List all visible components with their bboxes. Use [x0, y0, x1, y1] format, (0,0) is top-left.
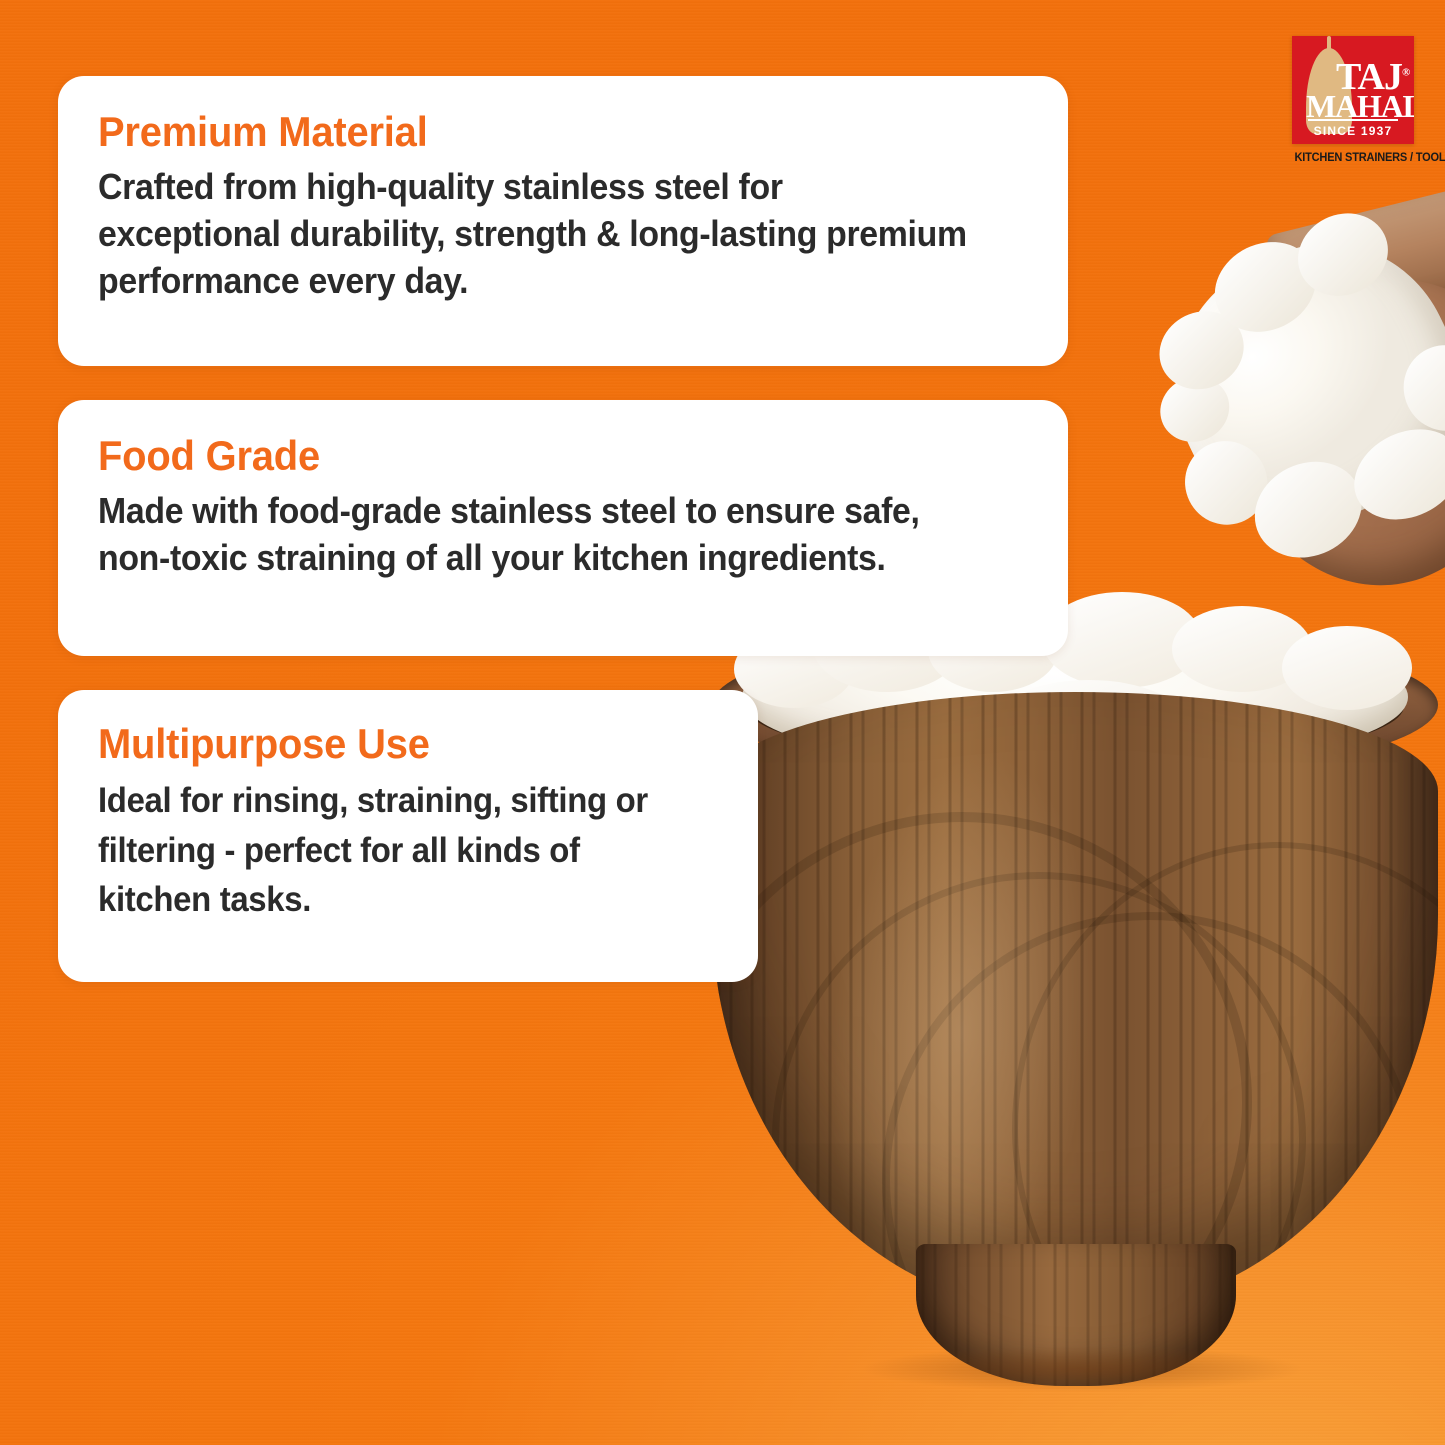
scoop-flour-mound [1131, 203, 1445, 566]
wooden-scoop-image [1123, 179, 1445, 701]
product-feature-banner: Multipurpose Use Ideal for rinsing, stra… [0, 0, 1445, 1445]
feature-title-multipurpose-use: Multipurpose Use [98, 722, 687, 766]
bowl-drop-shadow [862, 1346, 1302, 1392]
logo-tagline: KITCHEN STRAINERS / TOOLS [1294, 152, 1411, 164]
feature-title-food-grade: Food Grade [98, 434, 982, 478]
feature-body-multipurpose-use: Ideal for rinsing, straining, sifting or… [98, 776, 681, 925]
bowl-interior [746, 646, 1404, 766]
wooden-bowl-image [712, 630, 1438, 1390]
logo-since-text: SINCE 1937 [1292, 124, 1414, 138]
logo-badge: TAJ® MAHAL SINCE 1937 [1292, 36, 1414, 144]
feature-card-food-grade: Food Grade Made with food-grade stainles… [58, 400, 1068, 656]
wood-grain-texture [712, 692, 1438, 1312]
bowl-foot [916, 1244, 1236, 1386]
feature-body-premium-material: Crafted from high-quality stainless stee… [98, 164, 972, 304]
brand-logo: TAJ® MAHAL SINCE 1937 KITCHEN STRAINERS … [1292, 36, 1414, 176]
scoop-handle [1264, 176, 1445, 353]
scoop-bowl [1185, 229, 1445, 630]
feature-body-food-grade: Made with food-grade stainless steel to … [98, 488, 972, 582]
feature-card-premium-material: Premium Material Crafted from high-quali… [58, 76, 1068, 366]
bowl-body [712, 692, 1438, 1312]
logo-word-mahal: MAHAL [1306, 90, 1414, 122]
feature-card-multipurpose-use: Multipurpose Use Ideal for rinsing, stra… [58, 690, 758, 982]
registered-trademark-icon: ® [1402, 66, 1409, 78]
feature-title-premium-material: Premium Material [98, 110, 982, 154]
